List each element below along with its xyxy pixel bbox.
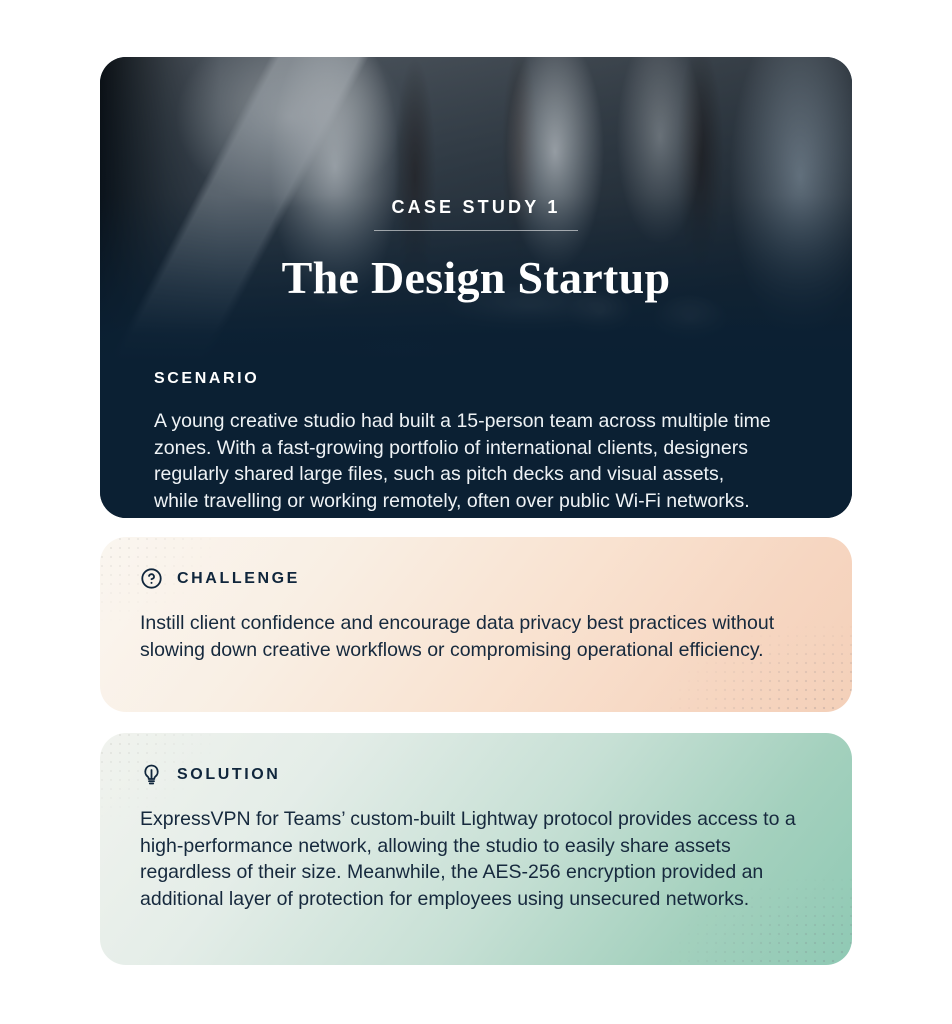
hero-case-study-card: CASE STUDY 1 The Design Startup SCENARIO… [100,57,852,518]
hero-content: CASE STUDY 1 The Design Startup SCENARIO… [100,57,852,518]
challenge-label: CHALLENGE [177,570,300,588]
solution-label: SOLUTION [177,766,280,784]
solution-header: SOLUTION [140,763,280,786]
scenario-body-text: A young creative studio had built a 15-p… [154,408,772,514]
challenge-header: CHALLENGE [140,567,300,590]
lightbulb-icon [140,763,163,786]
scenario-label: SCENARIO [154,370,259,388]
page-title: The Design Startup [100,251,852,304]
case-study-eyebrow: CASE STUDY 1 [100,197,852,218]
case-study-page: CASE STUDY 1 The Design Startup SCENARIO… [0,0,952,1024]
solution-card: SOLUTION ExpressVPN for Teams’ custom-bu… [100,733,852,965]
solution-body-text: ExpressVPN for Teams’ custom-built Light… [140,806,810,912]
challenge-card: CHALLENGE Instill client confidence and … [100,537,852,712]
question-circle-icon [140,567,163,590]
challenge-body-text: Instill client confidence and encourage … [140,610,810,663]
hero-divider [374,230,578,231]
